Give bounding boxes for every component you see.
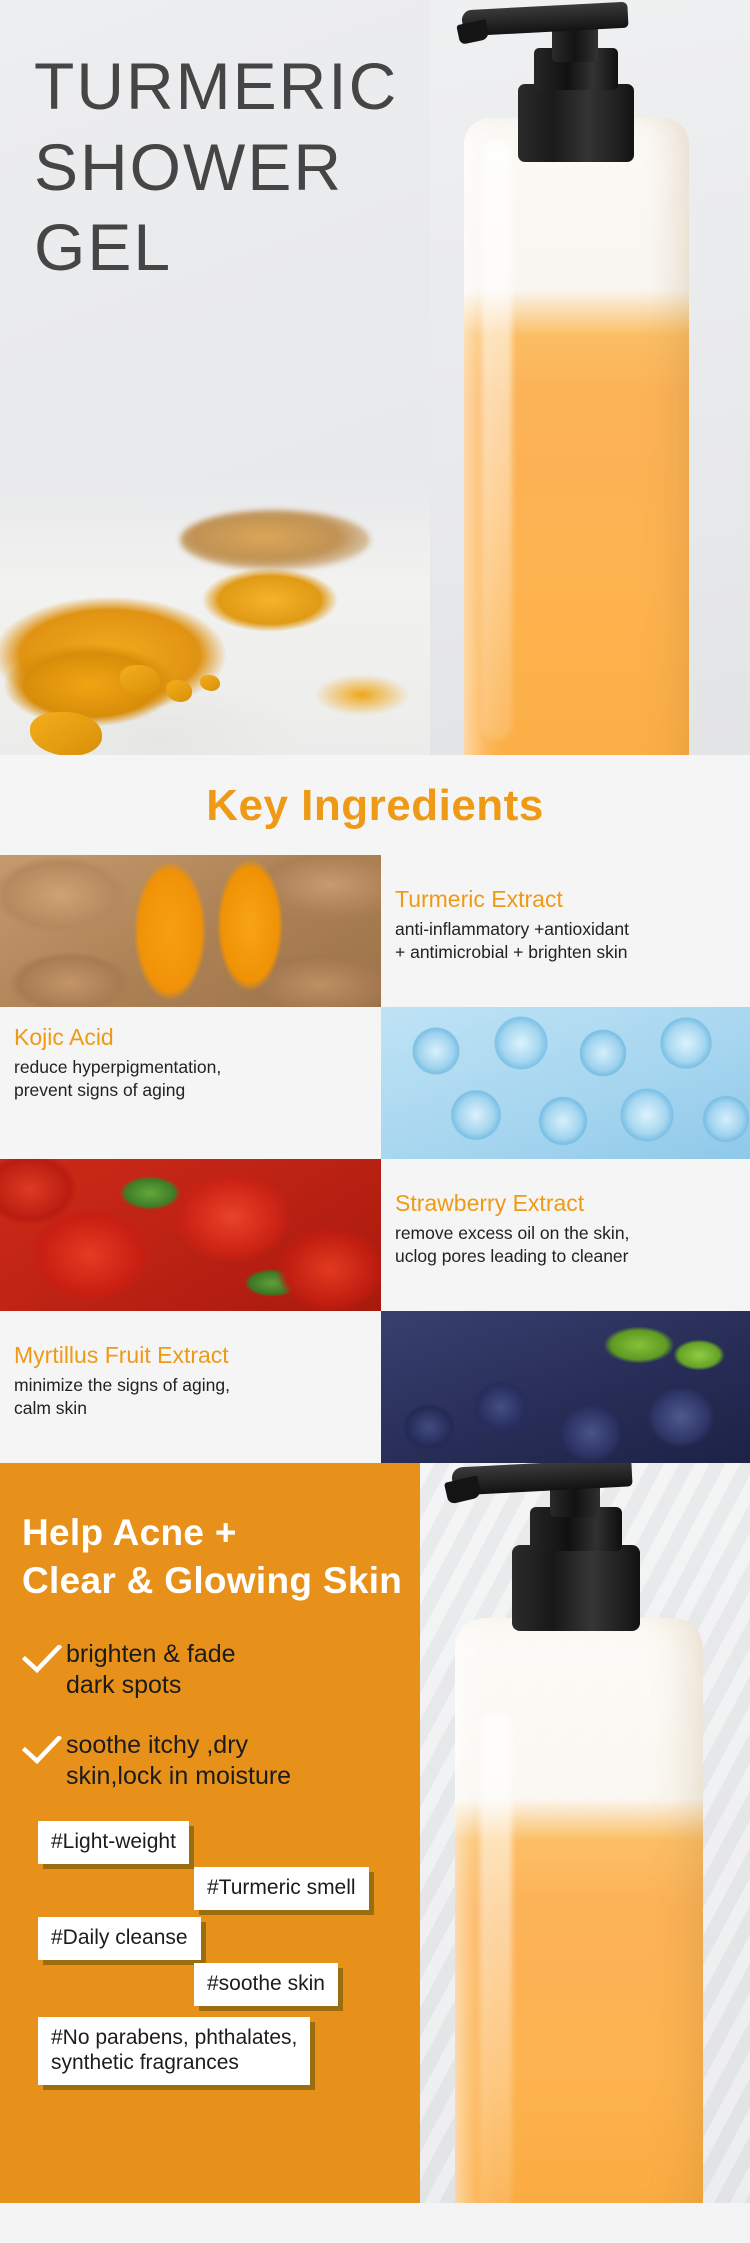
ingredient-image-strawberry — [0, 1159, 381, 1311]
ingredient-description: minimize the signs of aging, calm skin — [14, 1374, 367, 1420]
ingredient-name: Turmeric Extract — [395, 885, 736, 913]
ingredients-heading: Key Ingredients — [0, 755, 750, 855]
hashtag-tag: #soothe skin — [194, 1963, 338, 2006]
hashtag-label: #Light-weight — [38, 1821, 189, 1864]
benefits-list: brighten & fade dark spots soothe itchy … — [22, 1639, 750, 1791]
ingredient-name: Myrtillus Fruit Extract — [14, 1341, 367, 1369]
benefits-heading: Help Acne + Clear & Glowing Skin — [22, 1509, 750, 1605]
hashtag-label: #Daily cleanse — [38, 1917, 201, 1960]
benefits-section: Help Acne + Clear & Glowing Skin brighte… — [0, 1463, 750, 2203]
ingredient-image-turmeric — [0, 855, 381, 1007]
benefit-item: brighten & fade dark spots — [22, 1639, 750, 1700]
ingredient-item-turmeric: Turmeric Extract anti-inflammatory +anti… — [381, 855, 750, 1007]
hero-product-photo — [430, 0, 750, 755]
ingredient-item-strawberry: Strawberry Extract remove excess oil on … — [381, 1159, 750, 1311]
benefit-label: brighten & fade dark spots — [66, 1639, 236, 1700]
ingredient-description: reduce hyperpigmentation, prevent signs … — [14, 1056, 367, 1102]
infographic-page: TURMERIC SHOWER GEL Key Ingredients Turm… — [0, 0, 750, 2243]
benefits-content: Help Acne + Clear & Glowing Skin brighte… — [0, 1463, 750, 1791]
turmeric-powder-photo — [0, 480, 430, 755]
ingredient-name: Kojic Acid — [14, 1023, 367, 1051]
ingredient-name: Strawberry Extract — [395, 1189, 736, 1217]
ingredient-image-blueberry — [381, 1311, 750, 1463]
pump-nozzle — [456, 19, 490, 45]
page-title: TURMERIC SHOWER GEL — [34, 46, 398, 288]
benefit-label: soothe itchy ,dry skin,lock in moisture — [66, 1730, 291, 1791]
ingredients-grid: Turmeric Extract anti-inflammatory +anti… — [0, 855, 750, 1463]
ingredient-item-myrtillus: Myrtillus Fruit Extract minimize the sig… — [0, 1311, 381, 1463]
ingredient-description: remove excess oil on the skin, uclog por… — [395, 1222, 736, 1268]
pump-collar — [518, 84, 634, 162]
check-icon — [22, 1730, 66, 1766]
benefit-item: soothe itchy ,dry skin,lock in moisture — [22, 1730, 750, 1791]
check-icon — [22, 1639, 66, 1675]
hashtag-tag: #Turmeric smell — [194, 1867, 369, 1910]
ingredient-description: anti-inflammatory +antioxidant + antimic… — [395, 918, 736, 964]
hashtag-tag: #No parabens, phthalates, synthetic frag… — [38, 2017, 310, 2085]
bottle-highlight — [482, 140, 512, 740]
hashtag-tag: #Light-weight — [38, 1821, 189, 1864]
hashtag-label: #Turmeric smell — [194, 1867, 369, 1910]
ingredient-item-kojic-acid: Kojic Acid reduce hyperpigmentation, pre… — [0, 1007, 381, 1159]
hashtag-label: #soothe skin — [194, 1963, 338, 2006]
ingredients-section: Key Ingredients Turmeric Extract anti-in… — [0, 755, 750, 1463]
hashtag-tag: #Daily cleanse — [38, 1917, 201, 1960]
hero-section: TURMERIC SHOWER GEL — [0, 0, 750, 755]
hashtag-label: #No parabens, phthalates, synthetic frag… — [38, 2017, 310, 2085]
ingredient-image-bubbles — [381, 1007, 750, 1159]
